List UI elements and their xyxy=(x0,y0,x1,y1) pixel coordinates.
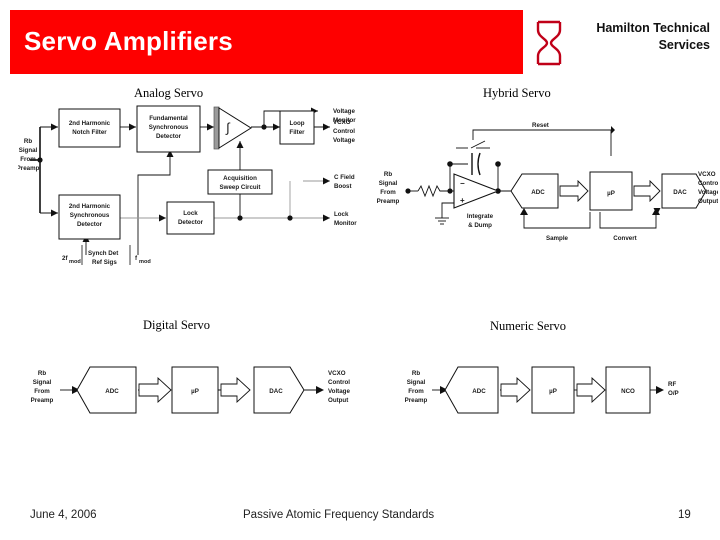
block-acquisition-sweep: Acquisition Sweep Circuit xyxy=(208,170,272,194)
company-logo: Hamilton Technical Services xyxy=(534,18,710,70)
svg-text:Voltage: Voltage xyxy=(333,137,355,144)
hybrid-input-label: Rb Signal From Preamp xyxy=(377,171,400,205)
logo-line-1: Hamilton Technical xyxy=(570,20,710,37)
up-label: µP xyxy=(607,190,615,197)
svg-text:From: From xyxy=(34,388,50,395)
loop-line1: Loop xyxy=(289,120,304,127)
block-hybrid-up: µP xyxy=(590,172,632,210)
svg-text:RF: RF xyxy=(668,381,676,388)
svg-text:Signal: Signal xyxy=(19,147,38,154)
sync2-line3: Detector xyxy=(77,221,103,228)
loop-line2: Filter xyxy=(289,129,305,136)
dac-label: DAC xyxy=(673,189,687,196)
analog-output-c-field-boost: C Field Boost xyxy=(334,174,355,190)
numeric-input-label: Rb Signal From Preamp xyxy=(405,370,428,404)
up-label: µP xyxy=(191,388,199,395)
block-notch-filter: 2nd Harmonic Notch Filter xyxy=(59,109,120,147)
sync2-line2: Synchronous xyxy=(70,212,110,219)
bus-arrow-adc-to-up xyxy=(560,181,588,201)
footer-subtitle: Passive Atomic Frequency Standards xyxy=(243,509,434,521)
acq-line1: Acquisition xyxy=(223,175,257,182)
svg-text:VCXO: VCXO xyxy=(333,119,351,126)
caption-digital-servo: Digital Servo xyxy=(143,318,210,333)
caption-analog-servo: Analog Servo xyxy=(134,86,203,101)
svg-text:From: From xyxy=(20,156,36,163)
caption-hybrid-servo: Hybrid Servo xyxy=(483,86,551,101)
logo-text: Hamilton Technical Services xyxy=(570,20,710,54)
adc-label: ADC xyxy=(105,388,119,395)
block-integrate-and-dump-opamp: − + Integrate & Dump xyxy=(454,174,498,229)
block-numeric-adc: ADC xyxy=(445,367,498,413)
svg-text:Preamp: Preamp xyxy=(18,165,40,172)
analog-output-lock-monitor: Lock Monitor xyxy=(334,211,357,227)
svg-text:Signal: Signal xyxy=(33,379,52,386)
opamp-line1: Integrate xyxy=(467,213,494,220)
svg-text:Synch Det: Synch Det xyxy=(88,250,118,257)
block-digital-dac: DAC xyxy=(254,367,304,413)
svg-text:From: From xyxy=(408,388,424,395)
dac-label: DAC xyxy=(269,388,283,395)
svg-text:mod: mod xyxy=(139,259,151,265)
svg-text:+: + xyxy=(460,196,465,205)
digital-output-label: VCXO Control Voltage Output xyxy=(328,370,350,404)
adc-label: ADC xyxy=(531,189,545,196)
svg-text:Control: Control xyxy=(333,105,355,106)
svg-text:VCXO: VCXO xyxy=(698,171,716,178)
numeric-servo-diagram: ADC µP NCO Rb Signal From Preamp RF O/P xyxy=(400,355,700,425)
lockdet-line1: Lock xyxy=(183,210,198,217)
block-numeric-nco: NCO xyxy=(606,367,650,413)
block-numeric-up: µP xyxy=(532,367,574,413)
fund-line3: Detector xyxy=(156,133,182,140)
svg-text:Voltage: Voltage xyxy=(328,388,350,395)
svg-text:Rb: Rb xyxy=(38,370,46,377)
svg-text:Ref Sigs: Ref Sigs xyxy=(92,259,117,266)
bus-arrow-up-to-dac xyxy=(634,181,660,201)
svg-text:Rb: Rb xyxy=(24,138,32,145)
svg-text:Preamp: Preamp xyxy=(377,198,400,205)
digital-input-label: Rb Signal From Preamp xyxy=(31,370,54,404)
svg-text:C Field: C Field xyxy=(334,174,355,181)
block-integrator: ∫ Integrator xyxy=(214,105,251,149)
svg-text:f: f xyxy=(135,255,138,262)
footer-page-number: 19 xyxy=(678,509,691,521)
nco-label: NCO xyxy=(621,388,635,395)
fund-line2: Synchronous xyxy=(149,124,189,131)
block-digital-adc: ADC xyxy=(77,367,136,413)
svg-text:From: From xyxy=(380,189,396,196)
svg-text:VCXO: VCXO xyxy=(328,370,346,377)
svg-text:Preamp: Preamp xyxy=(31,397,54,404)
sync2-line1: 2nd Harmonic xyxy=(69,203,111,210)
svg-text:Monitor: Monitor xyxy=(334,220,357,227)
bus-arrow-adc-to-up xyxy=(501,378,530,402)
svg-text:Lock: Lock xyxy=(334,211,349,218)
svg-text:Signal: Signal xyxy=(407,379,426,386)
digital-servo-diagram: ADC µP DAC Rb Signal From Preamp VCXO Co… xyxy=(22,355,362,425)
svg-text:−: − xyxy=(460,179,465,188)
block-loop-filter: Loop Filter xyxy=(280,111,314,144)
page-title: Servo Amplifiers xyxy=(24,26,233,57)
title-banner: Servo Amplifiers xyxy=(10,10,523,74)
sample-label: Sample xyxy=(546,235,569,242)
hourglass-icon xyxy=(534,20,564,66)
reset-label: Reset xyxy=(532,122,549,129)
svg-text:Control: Control xyxy=(328,379,350,386)
up-label: µP xyxy=(549,388,557,395)
lockdet-line2: Detector xyxy=(178,219,204,226)
svg-text:Control: Control xyxy=(698,180,718,187)
svg-text:Voltage: Voltage xyxy=(333,108,355,115)
svg-text:Boost: Boost xyxy=(334,183,352,190)
analog-servo-diagram: 2nd Harmonic Notch Filter Fundamental Sy… xyxy=(18,105,368,270)
block-2nd-harmonic-sync-detector: 2nd Harmonic Synchronous Detector xyxy=(59,195,120,239)
opamp-line2: & Dump xyxy=(468,222,492,229)
bus-arrow-up-to-nco xyxy=(577,378,605,402)
bus-arrow-up-to-dac xyxy=(221,378,250,402)
analog-input-label: Rb Signal From Preamp xyxy=(18,138,40,172)
block-hybrid-adc: ADC xyxy=(511,174,558,208)
svg-text:O/P: O/P xyxy=(668,390,679,397)
svg-text:Output: Output xyxy=(328,397,348,404)
svg-text:mod: mod xyxy=(69,259,81,265)
notch-line1: 2nd Harmonic xyxy=(69,120,111,127)
svg-text:Rb: Rb xyxy=(384,171,392,178)
svg-text:Rb: Rb xyxy=(412,370,420,377)
svg-text:Output: Output xyxy=(698,198,718,205)
block-lock-detector: Lock Detector xyxy=(167,202,214,234)
convert-label: Convert xyxy=(613,235,636,242)
hybrid-servo-diagram: − + Integrate & Dump ADC µP DAC Rb Signa… xyxy=(372,108,718,253)
caption-numeric-servo: Numeric Servo xyxy=(490,319,566,334)
notch-line2: Notch Filter xyxy=(72,129,107,136)
svg-text:Voltage: Voltage xyxy=(698,189,718,196)
svg-text:Preamp: Preamp xyxy=(405,397,428,404)
svg-text:2f: 2f xyxy=(62,255,68,262)
adc-label: ADC xyxy=(472,388,486,395)
acq-line2: Sweep Circuit xyxy=(220,184,261,191)
block-fundamental-sync-detector: Fundamental Synchronous Detector xyxy=(137,106,200,152)
numeric-output-label: RF O/P xyxy=(668,381,679,397)
logo-line-2: Services xyxy=(570,37,710,54)
svg-text:Signal: Signal xyxy=(379,180,398,187)
svg-text:Control: Control xyxy=(333,128,355,135)
fund-line1: Fundamental xyxy=(149,115,188,122)
block-digital-up: µP xyxy=(172,367,218,413)
footer-date: June 4, 2006 xyxy=(30,509,97,521)
bus-arrow-adc-to-up xyxy=(139,378,171,402)
